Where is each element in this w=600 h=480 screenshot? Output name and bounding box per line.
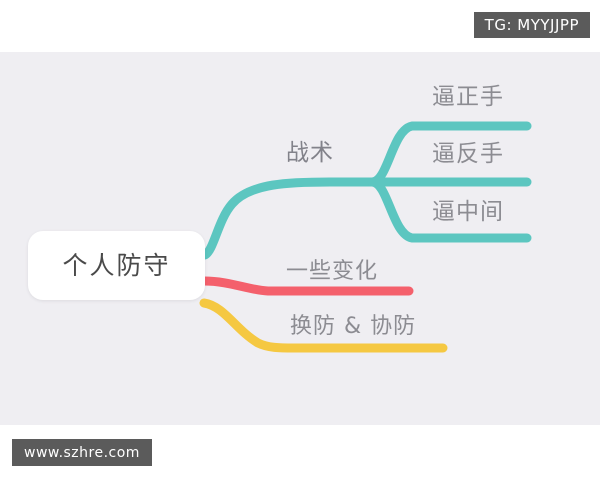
branch-label-switch-help[interactable]: 换防 & 协防	[290, 316, 416, 338]
root-node[interactable]: 个人防守	[28, 231, 205, 300]
branch-label-backhand[interactable]: 逼反手	[432, 143, 504, 166]
root-node-label: 个人防守	[62, 253, 170, 278]
branch-label-tactics[interactable]: 战术	[286, 142, 334, 165]
telegram-watermark: TG: MYYJJPP	[474, 12, 590, 38]
branch-label-forehand[interactable]: 逼正手	[432, 86, 504, 109]
mindmap-screenshot: 个人防守 战术 逼正手 逼反手 逼中间 一些变化 换防 & 协防 TG: MYY…	[0, 0, 600, 480]
branch-label-middle[interactable]: 逼中间	[432, 201, 504, 224]
branch-label-variation[interactable]: 一些变化	[286, 261, 378, 283]
site-watermark: www.szhre.com	[12, 439, 152, 466]
